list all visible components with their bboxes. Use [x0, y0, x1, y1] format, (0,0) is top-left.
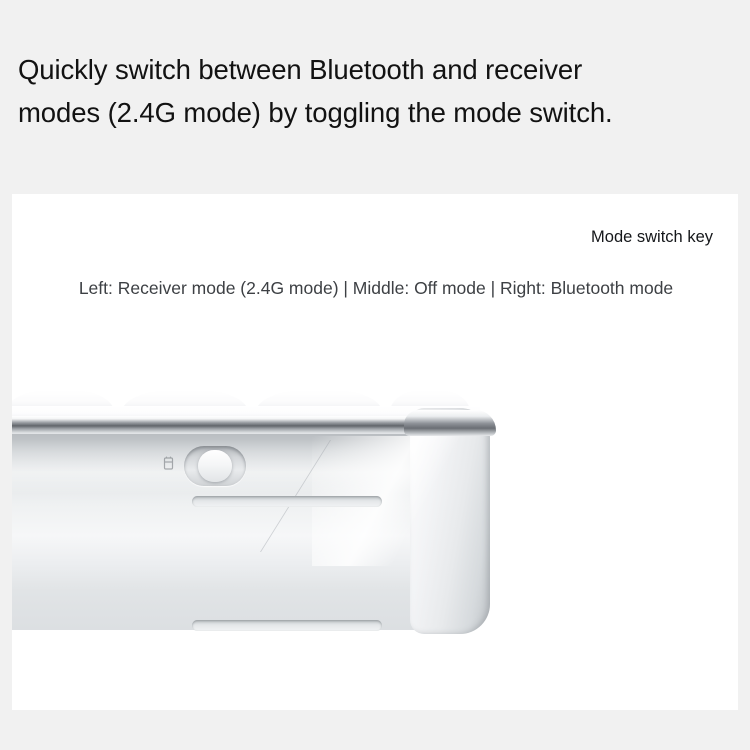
chassis-groove: [192, 496, 382, 507]
chrome-bevel-band: [12, 416, 470, 436]
mode-switch-glyph-icon: [162, 456, 175, 472]
mode-description-caption: Left: Receiver mode (2.4G mode) | Middle…: [22, 276, 730, 300]
mode-switch-key-label: Mode switch key: [591, 226, 713, 248]
product-info-card: Mode switch key Left: Receiver mode (2.4…: [12, 194, 738, 710]
page-heading: Quickly switch between Bluetooth and rec…: [18, 48, 730, 134]
chassis-groove: [192, 620, 382, 631]
chassis-right-endcap-bevel: [404, 410, 496, 436]
mode-switch-knob[interactable]: [198, 450, 232, 482]
product-photo: [12, 380, 738, 710]
photo-bottom-fade: [12, 640, 738, 710]
